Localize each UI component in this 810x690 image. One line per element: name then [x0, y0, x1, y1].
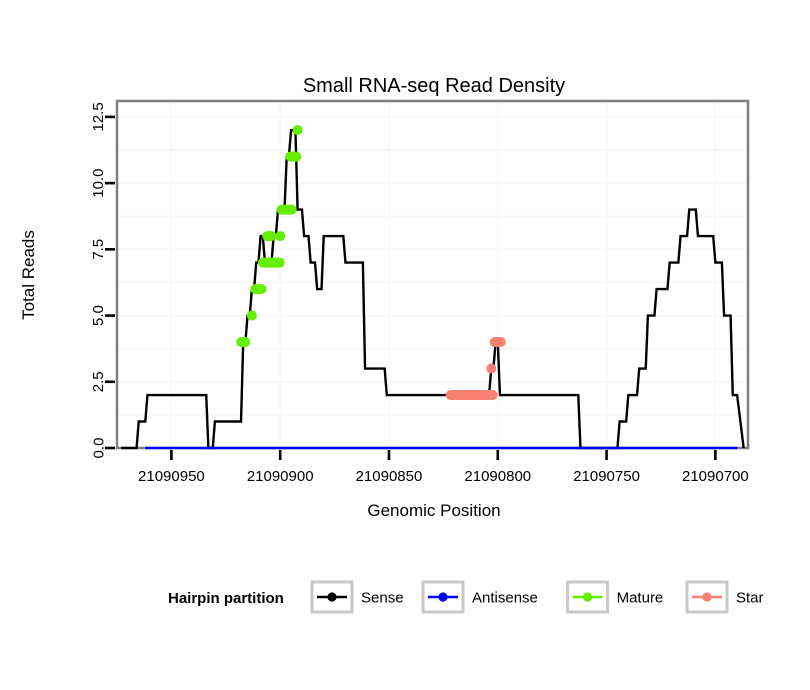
read-density-plot: Small RNA-seq Read Density 2109095021090…	[0, 0, 810, 690]
marker-mature	[247, 311, 257, 321]
chart-figure: Small RNA-seq Read Density 2109095021090…	[0, 0, 810, 690]
y-tick-label: 2.5	[90, 371, 107, 392]
marker-mature	[275, 231, 285, 241]
marker-mature	[236, 337, 250, 347]
marker-mature	[263, 258, 285, 268]
x-tick-label: 21090850	[356, 468, 423, 485]
x-tick-label: 21090900	[247, 468, 314, 485]
y-tick-label: 12.5	[90, 102, 107, 131]
x-axis-label: Genomic Position	[367, 501, 500, 520]
legend-key-point	[438, 592, 447, 601]
legend-title: Hairpin partition	[168, 590, 284, 607]
legend-label: Antisense	[472, 589, 538, 606]
marker-mature	[262, 231, 276, 241]
x-tick-label: 21090750	[573, 468, 640, 485]
marker-mature	[250, 284, 266, 294]
marker-star	[446, 390, 498, 400]
y-axis-label: Total Reads	[19, 230, 38, 320]
y-tick-label: 0.0	[90, 438, 107, 459]
legend-key-point	[327, 592, 336, 601]
marker-mature	[293, 125, 303, 135]
y-tick-label: 5.0	[90, 305, 107, 326]
marker-mature	[277, 205, 297, 215]
legend-label: Star	[736, 589, 764, 606]
legend-label: Sense	[361, 589, 404, 606]
legend-key-point	[583, 592, 592, 601]
marker-mature	[285, 152, 301, 162]
legend-key-point	[702, 592, 711, 601]
x-tick-label: 21090950	[138, 468, 205, 485]
y-tick-label: 7.5	[90, 239, 107, 260]
legend-label: Mature	[617, 589, 664, 606]
y-tick-label: 10.0	[90, 169, 107, 198]
x-tick-label: 21090700	[682, 468, 749, 485]
chart-title: Small RNA-seq Read Density	[303, 75, 565, 97]
marker-star	[486, 364, 496, 374]
marker-star	[490, 337, 506, 347]
x-tick-label: 21090800	[464, 468, 531, 485]
